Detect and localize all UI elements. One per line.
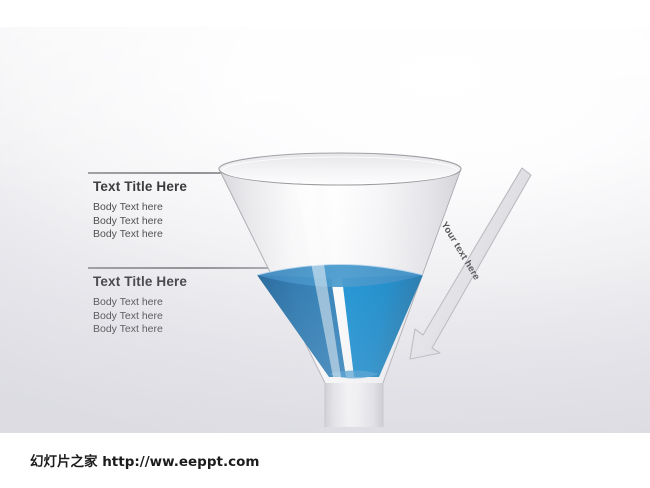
arrow-down-left-icon: Your text here bbox=[392, 162, 542, 362]
text-block-upper: Text Title Here Body Text here Body Text… bbox=[93, 179, 187, 242]
text-block-lower-line-1: Body Text here bbox=[93, 296, 187, 310]
text-block-upper-line-3: Body Text here bbox=[93, 228, 187, 242]
watermark-text: 幻灯片之家 http://ww.eeppt.com bbox=[30, 450, 259, 470]
text-block-lower-line-2: Body Text here bbox=[93, 310, 187, 324]
text-block-lower-line-3: Body Text here bbox=[93, 323, 187, 337]
text-block-upper-line-1: Body Text here bbox=[93, 201, 187, 215]
screenshot-root: Text Title Here Body Text here Body Text… bbox=[0, 0, 650, 488]
text-block-lower: Text Title Here Body Text here Body Text… bbox=[93, 274, 187, 337]
slide-canvas: Text Title Here Body Text here Body Text… bbox=[0, 27, 650, 433]
text-block-upper-line-2: Body Text here bbox=[93, 215, 187, 229]
text-block-lower-title: Text Title Here bbox=[93, 274, 187, 289]
funnel-spout bbox=[325, 377, 383, 427]
text-block-upper-title: Text Title Here bbox=[93, 179, 187, 194]
